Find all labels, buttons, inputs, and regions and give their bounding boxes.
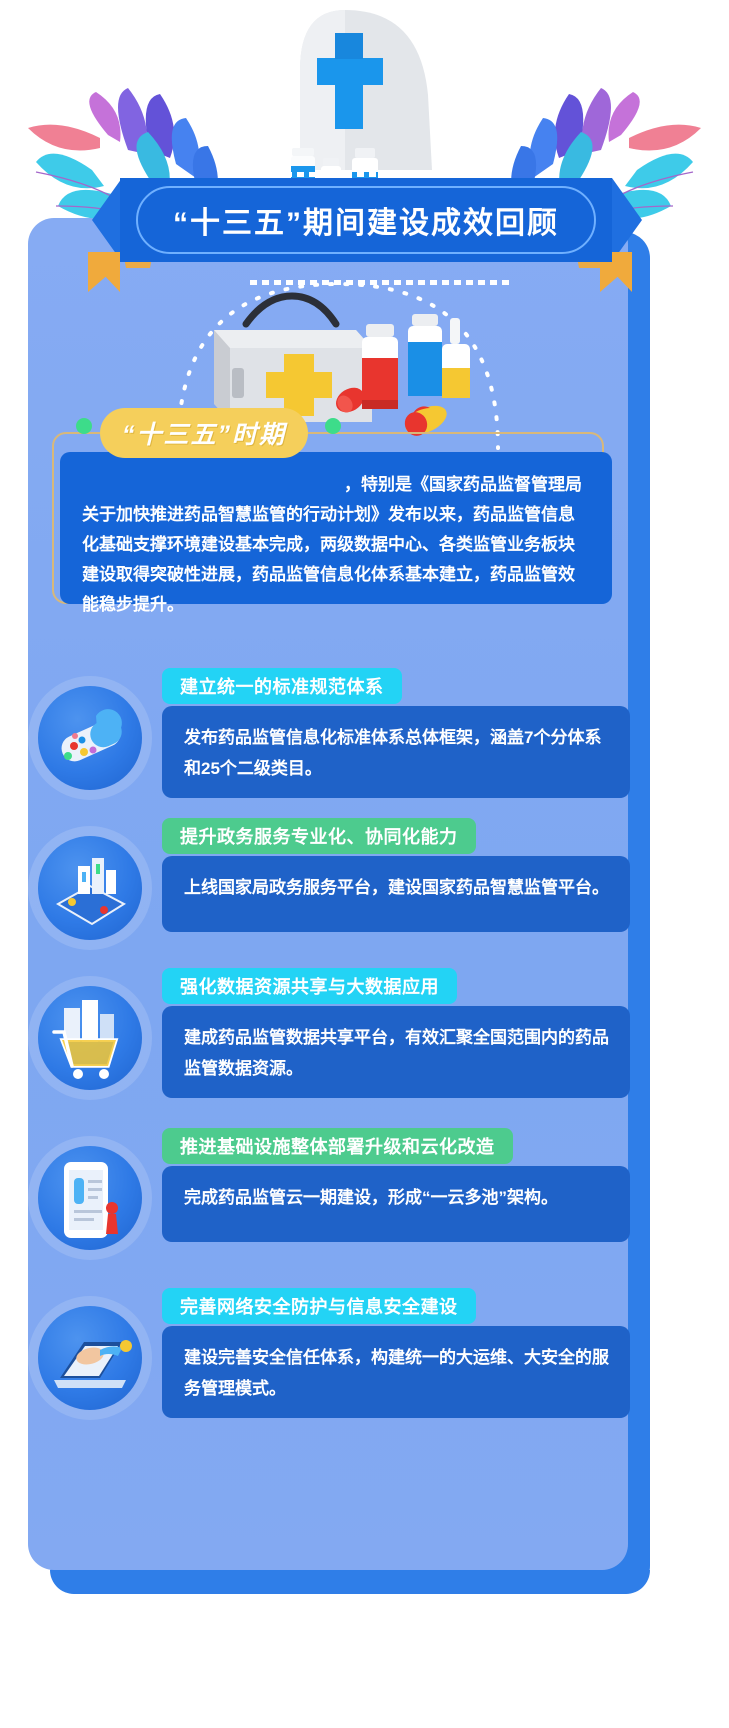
page-title: “十三五”期间建设成效回顾 (136, 186, 596, 254)
feature-title-5: 完善网络安全防护与信息安全建设 (162, 1288, 476, 1324)
feature-body-4: 完成药品监管云一期建设，形成“一云多池”架构。 (162, 1166, 630, 1242)
intro-text: ，特别是《国家药品监督管理局关于加快推进药品智慧监管的行动计划》发布以来，药品监… (82, 470, 590, 620)
ribbon-left-fold (92, 178, 122, 262)
capsule-pills-icon (38, 686, 142, 790)
dropper-bottle-icon (442, 318, 470, 398)
feature-title-1: 建立统一的标准规范体系 (162, 668, 402, 704)
shopping-cart-icon (38, 986, 142, 1090)
panel-bottom-bar (50, 1570, 650, 1594)
intro-card: ，特别是《国家药品监督管理局关于加快推进药品智慧监管的行动计划》发布以来，药品监… (60, 452, 612, 604)
title-banner: “十三五”期间建设成效回顾 (0, 152, 729, 274)
laptop-security-icon (38, 1306, 142, 1410)
decor-dot-left (76, 418, 92, 434)
decor-dot-right (325, 418, 341, 434)
feature-body-3: 建成药品监管数据共享平台，有效汇聚全国范围内的药品监管数据资源。 (162, 1006, 630, 1098)
infographic-poster: “十三五”期间建设成效回顾 (0, 0, 729, 1728)
medicine-bottle-icon (408, 314, 442, 396)
intro-badge: “十三五”时期 (100, 408, 308, 458)
feature-body-2: 上线国家局政务服务平台，建设国家药品智慧监管平台。 (162, 856, 630, 932)
ribbon-right-fold (612, 178, 642, 262)
feature-body-1: 发布药品监管信息化标准体系总体框架，涵盖7个分体系和25个二级类目。 (162, 706, 630, 798)
feature-title-2: 提升政务服务专业化、协同化能力 (162, 818, 476, 854)
feature-title-3: 强化数据资源共享与大数据应用 (162, 968, 457, 1004)
feature-title-4: 推进基础设施整体部署升级和云化改造 (162, 1128, 513, 1164)
dotted-line-top (225, 172, 475, 177)
tablet-device-icon (38, 836, 142, 940)
feature-body-5: 建设完善安全信任体系，构建统一的大运维、大安全的服务管理模式。 (162, 1326, 630, 1418)
smartphone-icon (38, 1146, 142, 1250)
medicine-bottle-icon (362, 324, 398, 409)
